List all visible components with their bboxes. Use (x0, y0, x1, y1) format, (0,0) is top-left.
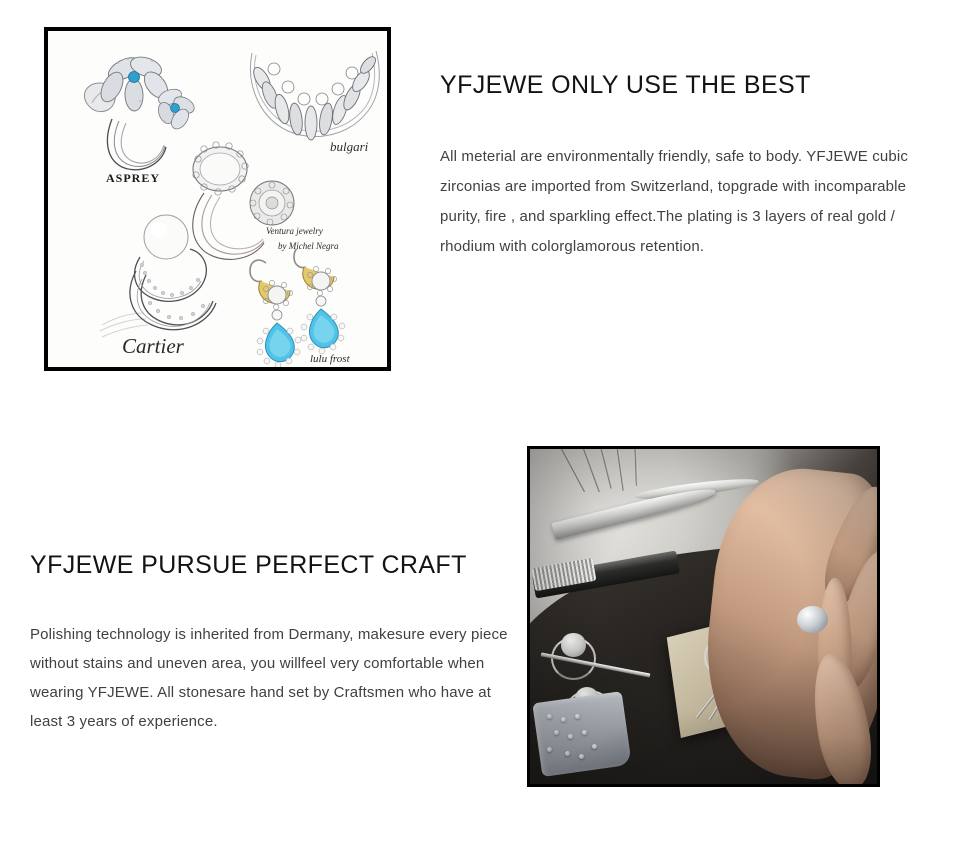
page-title-best-materials: YFJEWE ONLY USE THE BEST (440, 70, 935, 100)
page-title-perfect-craft: YFJEWE PURSUE PERFECT CRAFT (30, 550, 520, 580)
sketch-caption-cartier: Cartier (122, 334, 184, 359)
jeweler-workbench-photo (527, 446, 880, 787)
perfect-craft-text-block: YFJEWE PURSUE PERFECT CRAFT Polishing te… (30, 550, 520, 736)
photo-vignette (530, 449, 877, 784)
sketch-caption-asprey: ASPREY (106, 171, 160, 186)
lulu-frost-earrings-sketch (244, 249, 374, 369)
cartier-pearl-ring-sketch (96, 213, 246, 353)
workbench-scene (530, 449, 877, 784)
sketch-canvas: ASPREY (48, 31, 387, 367)
best-materials-text-block: YFJEWE ONLY USE THE BEST All meterial ar… (440, 70, 935, 262)
section-perfect-craft: YFJEWE PURSUE PERFECT CRAFT Polishing te… (0, 400, 960, 845)
section-best-materials: ASPREY (0, 0, 960, 400)
sketch-caption-ventura: Ventura jewelry (266, 226, 323, 236)
perfect-craft-body: Polishing technology is inherited from D… (30, 620, 520, 736)
jewelry-sketch-image: ASPREY (44, 27, 391, 371)
sketch-caption-bulgari: bulgari (330, 139, 368, 155)
sketch-caption-lulu-frost: lulu frost (310, 353, 350, 365)
best-materials-body: All meterial are environmentally friendl… (440, 142, 935, 262)
